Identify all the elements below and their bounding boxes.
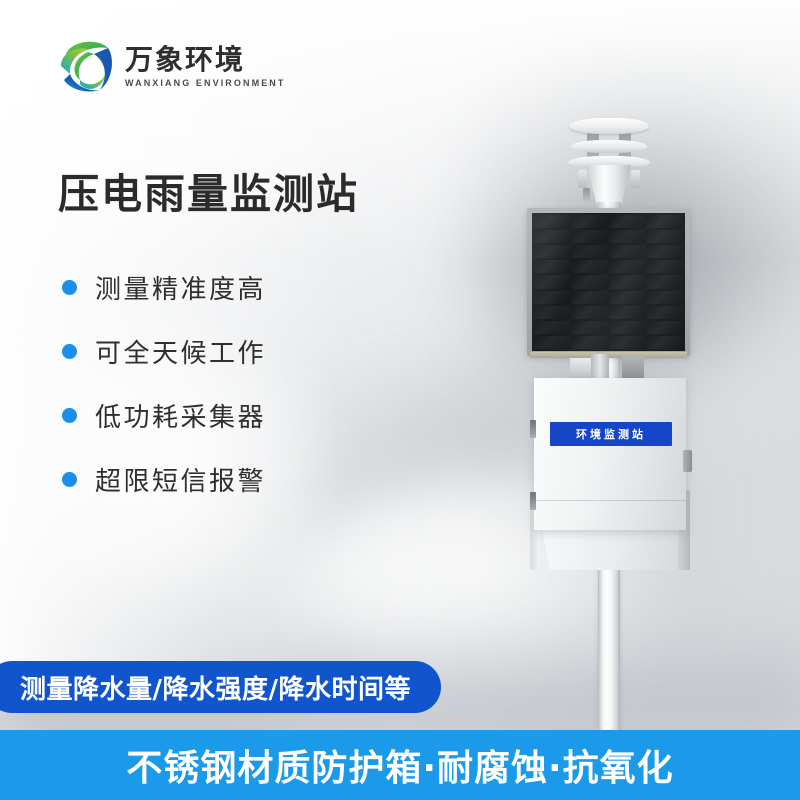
list-item: 低功耗采集器 (62, 383, 266, 447)
bullet-dot-icon (62, 280, 77, 295)
solar-cell (572, 230, 608, 243)
brand-name-cn: 万象环境 (125, 46, 286, 74)
solar-cell (610, 336, 646, 349)
page-title: 压电雨量监测站 (58, 160, 359, 220)
sensor-cone-body (587, 165, 631, 205)
feature-label: 测量精准度高 (95, 269, 266, 306)
solar-cell (647, 245, 683, 258)
solar-cell (572, 291, 608, 304)
solar-cell (572, 245, 608, 258)
solar-cell (534, 321, 570, 334)
weather-station-product: 环境监测站 (470, 100, 770, 740)
brand-name-en: WANXIANG ENVIRONMENT (125, 79, 286, 88)
solar-cell-grid (532, 213, 685, 351)
solar-cell (572, 215, 608, 228)
solar-cell (647, 291, 683, 304)
globe-swoosh-logo-icon (58, 36, 116, 98)
list-item: 可全天候工作 (62, 319, 266, 383)
solar-cell (647, 260, 683, 273)
highlight-pill-label: 测量降水量/降水强度/降水时间等 (20, 669, 411, 706)
bullet-dot-icon (62, 344, 77, 359)
solar-cell (534, 306, 570, 319)
solar-cell (572, 321, 608, 334)
solar-cell (610, 215, 646, 228)
solar-cell (647, 321, 683, 334)
solar-cell (610, 321, 646, 334)
brand-logo-text: 万象环境 WANXIANG ENVIRONMENT (125, 46, 286, 88)
solar-cell (647, 275, 683, 288)
enclosure-seam (534, 500, 686, 501)
enclosure-lower-skirt (542, 528, 678, 570)
sensor-lug-right (631, 170, 640, 188)
enclosure-hinge-bottom (530, 492, 536, 510)
list-item: 超限短信报警 (62, 447, 266, 511)
solar-cell (647, 336, 683, 349)
solar-cell (534, 336, 570, 349)
solar-cell (647, 215, 683, 228)
list-item: 测量精准度高 (62, 255, 266, 319)
bullet-dot-icon (62, 472, 77, 487)
mount-bracket-left (570, 358, 592, 378)
feature-label: 低功耗采集器 (95, 397, 266, 434)
product-poster: 环境监测站 万象环境 (0, 0, 800, 800)
footer-banner: 不锈钢材质防护箱·耐腐蚀·抗氧化 (0, 730, 800, 800)
solar-cell (610, 260, 646, 273)
highlight-pill-banner: 测量降水量/降水强度/降水时间等 (0, 661, 441, 713)
solar-cell (610, 291, 646, 304)
solar-cell (610, 275, 646, 288)
solar-cell (534, 260, 570, 273)
brand-logo: 万象环境 WANXIANG ENVIRONMENT (58, 36, 286, 98)
bullet-dot-icon (62, 408, 77, 423)
solar-cell (610, 245, 646, 258)
solar-cell (534, 275, 570, 288)
feature-label: 超限短信报警 (95, 461, 266, 498)
stainless-steel-enclosure (534, 378, 686, 530)
solar-cell (534, 230, 570, 243)
sensor-lug-left (578, 170, 587, 188)
sensor-shield-disc (571, 140, 647, 153)
solar-panel (527, 208, 690, 356)
solar-cell (572, 260, 608, 273)
solar-cell (534, 215, 570, 228)
solar-cell (572, 275, 608, 288)
solar-cell (534, 291, 570, 304)
enclosure-latch (683, 450, 692, 472)
solar-cell (647, 230, 683, 243)
solar-cell (572, 306, 608, 319)
enclosure-name-plate: 环境监测站 (550, 422, 672, 446)
enclosure-hinge-top (530, 420, 536, 438)
footer-banner-label: 不锈钢材质防护箱·耐腐蚀·抗氧化 (126, 739, 673, 791)
solar-cell (647, 306, 683, 319)
solar-cell (610, 230, 646, 243)
feature-list: 测量精准度高 可全天候工作 低功耗采集器 超限短信报警 (62, 255, 266, 511)
solar-cell (572, 336, 608, 349)
sensor-top-disc (569, 118, 649, 134)
sensor-cable-port (583, 188, 590, 201)
feature-label: 可全天候工作 (95, 333, 266, 370)
mount-bracket-right (622, 356, 644, 378)
solar-cell (610, 306, 646, 319)
enclosure-name-plate-text: 环境监测站 (576, 426, 646, 442)
solar-cell (534, 245, 570, 258)
